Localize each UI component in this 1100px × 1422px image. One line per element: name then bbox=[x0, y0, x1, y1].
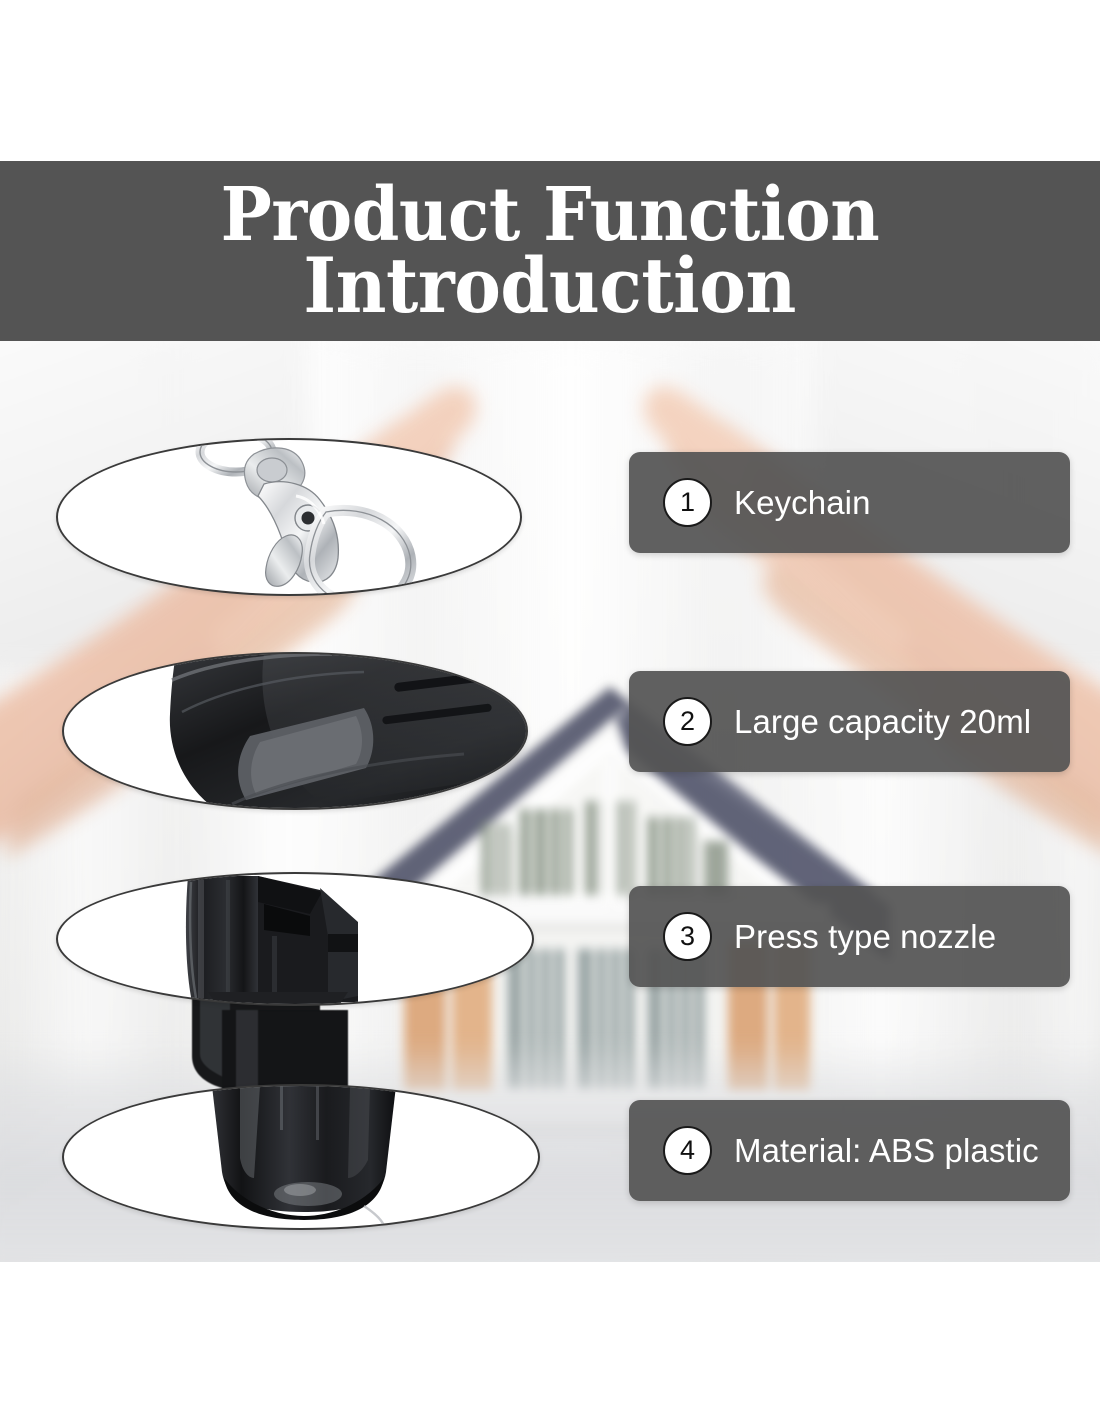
feature-label-1[interactable]: 1 Keychain bbox=[629, 452, 1070, 553]
feature-zoom-oval-1 bbox=[56, 438, 522, 596]
left-hand bbox=[0, 341, 600, 951]
page-title-line-1: Product Function bbox=[221, 181, 880, 249]
abs-base-illustration bbox=[64, 1086, 538, 1228]
bottle-body-illustration bbox=[64, 654, 526, 808]
feature-label-text-4: Material: ABS plastic bbox=[734, 1132, 1039, 1170]
feature-label-text-3: Press type nozzle bbox=[734, 918, 996, 956]
feature-zoom-oval-3 bbox=[56, 872, 534, 1006]
feature-badge-2: 2 bbox=[663, 697, 712, 746]
feature-label-text-2: Large capacity 20ml bbox=[734, 703, 1031, 741]
feature-badge-1: 1 bbox=[663, 478, 712, 527]
infographic-page: Product Function Introduction bbox=[0, 0, 1100, 1422]
feature-label-text-1: Keychain bbox=[734, 484, 871, 522]
feature-zoom-oval-2 bbox=[62, 652, 528, 810]
feature-zoom-oval-4 bbox=[62, 1084, 540, 1230]
press-nozzle-illustration bbox=[58, 874, 532, 1004]
feature-badge-3: 3 bbox=[663, 912, 712, 961]
right-hand bbox=[520, 341, 1100, 951]
feature-label-3[interactable]: 3 Press type nozzle bbox=[629, 886, 1070, 987]
feature-badge-4: 4 bbox=[663, 1126, 712, 1175]
page-title-line-2: Introduction bbox=[304, 251, 796, 321]
title-banner: Product Function Introduction bbox=[0, 161, 1100, 341]
keychain-clasp-illustration bbox=[58, 440, 520, 594]
feature-label-4[interactable]: 4 Material: ABS plastic bbox=[629, 1100, 1070, 1201]
feature-label-2[interactable]: 2 Large capacity 20ml bbox=[629, 671, 1070, 772]
